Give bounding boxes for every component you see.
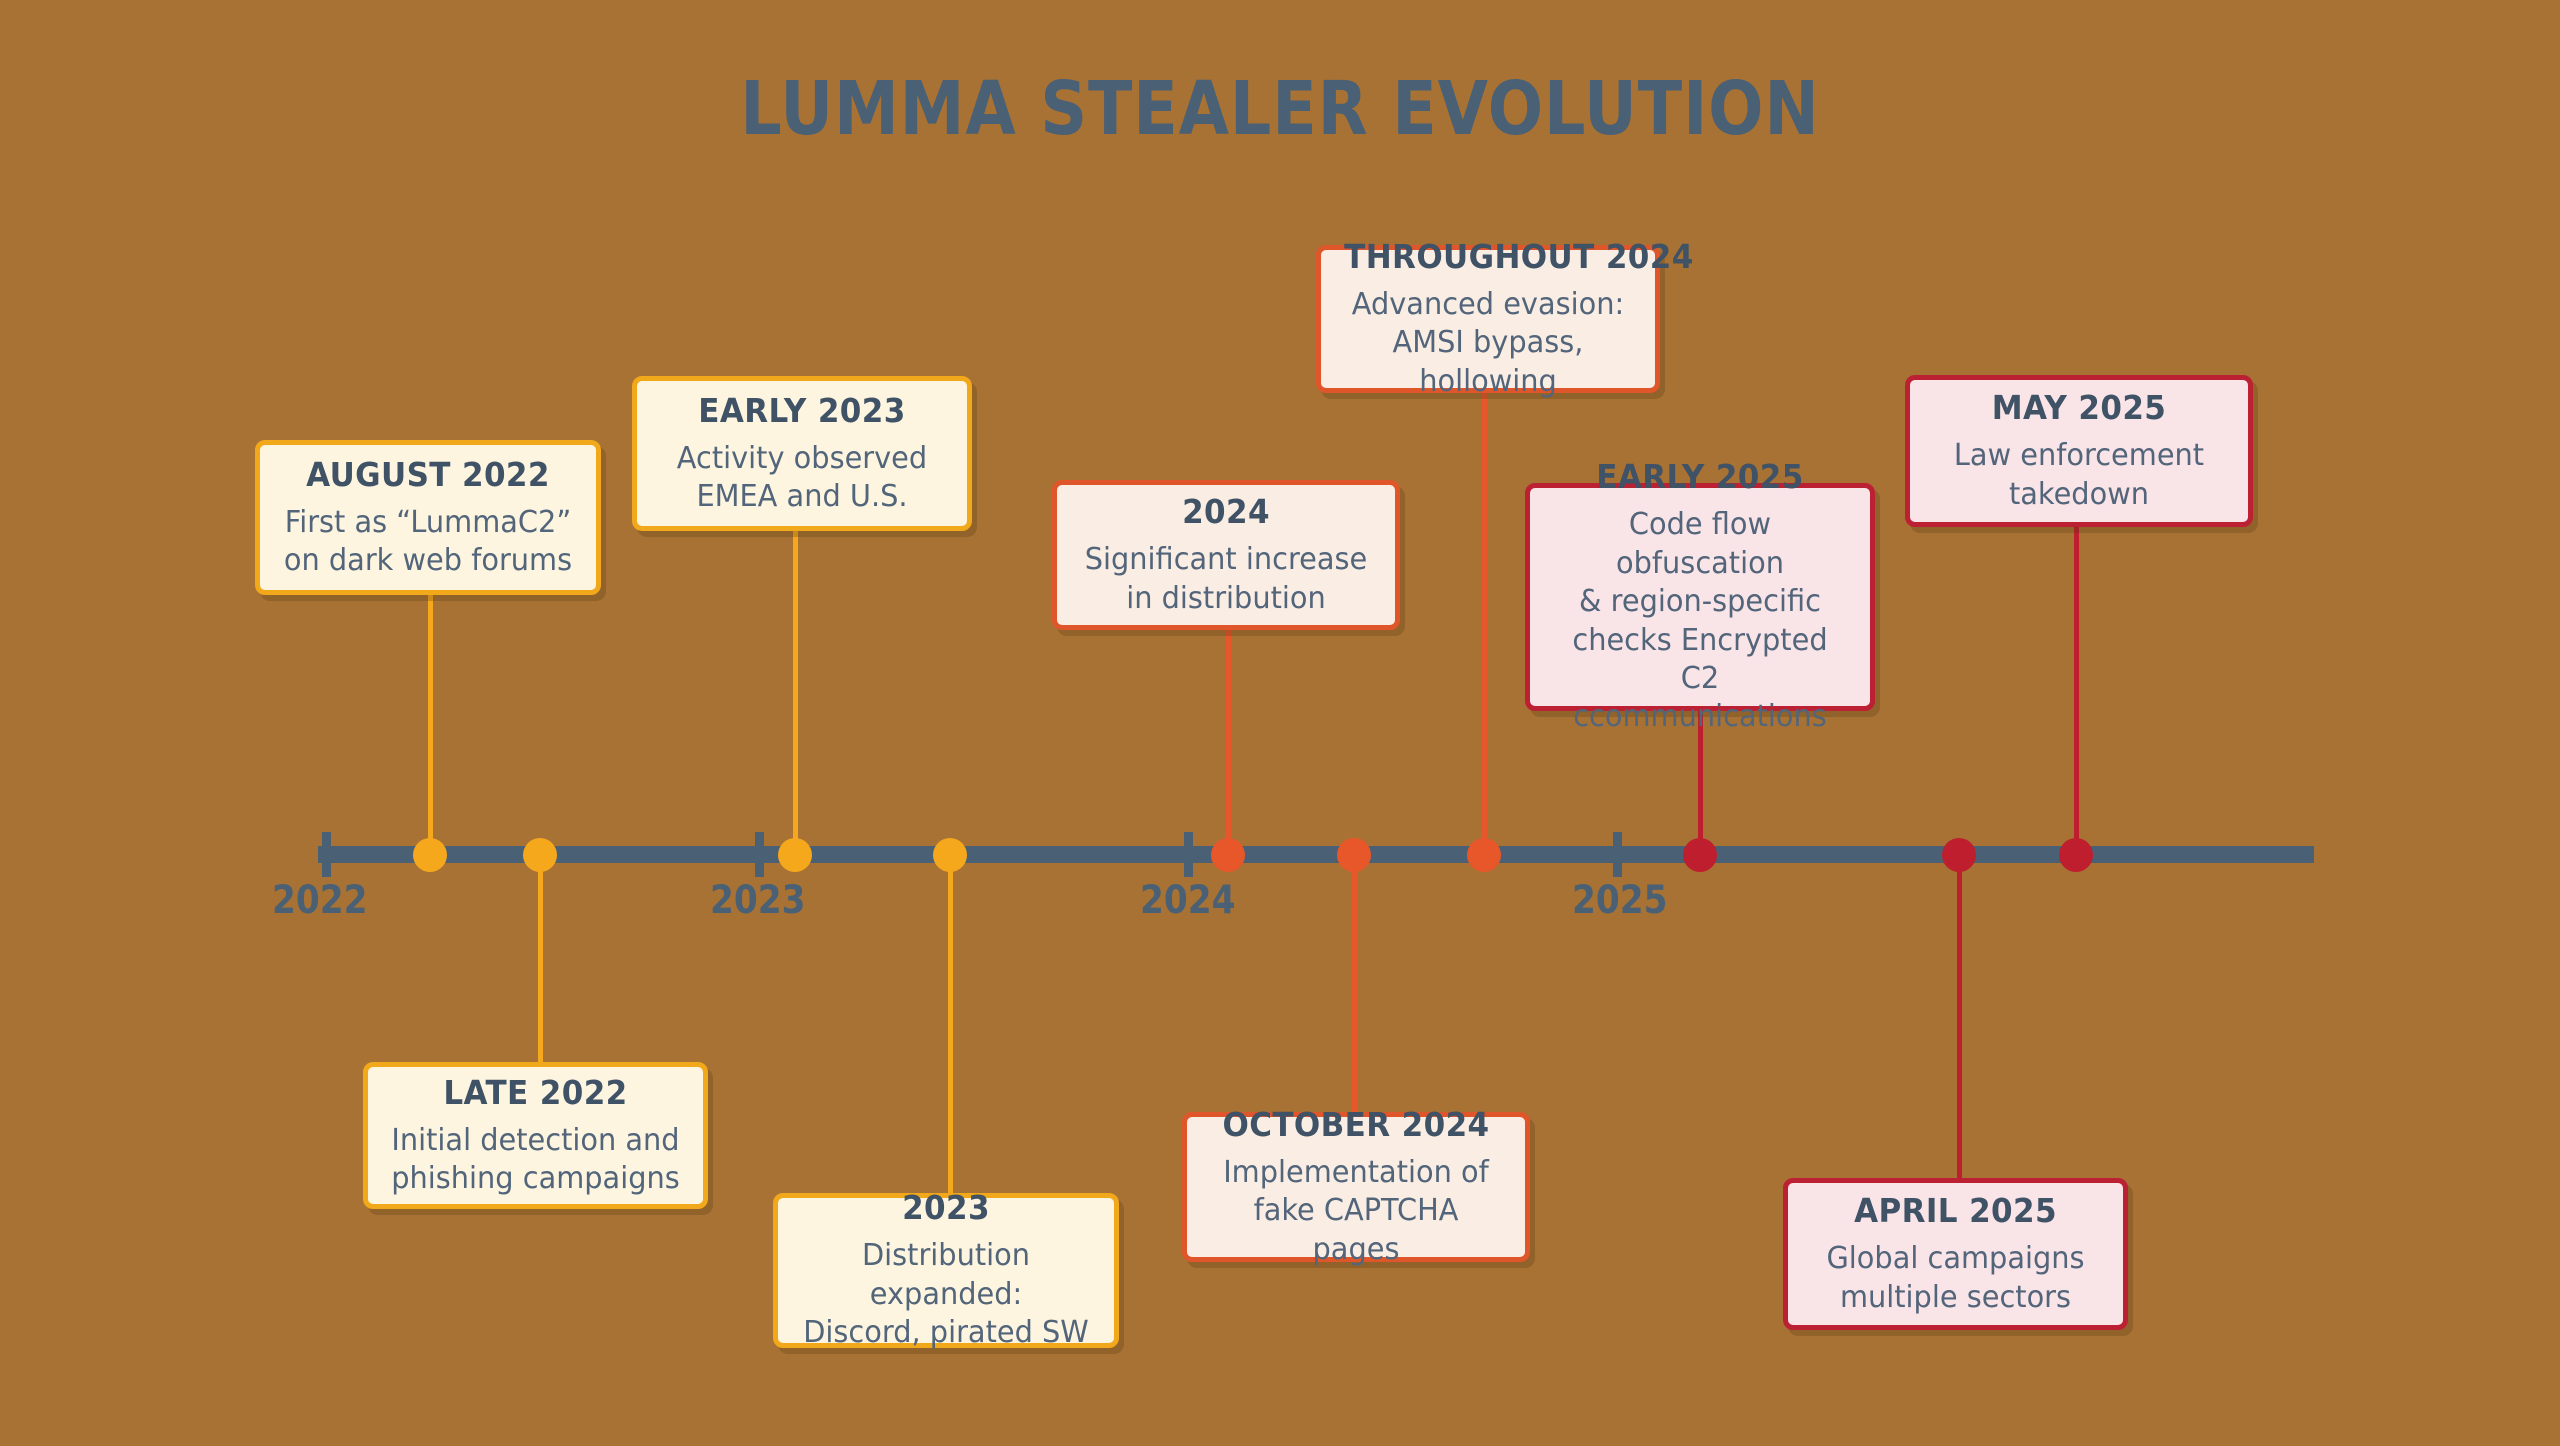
timeline-dot-late-2022[interactable]	[523, 838, 557, 872]
event-card-body: Code flow obfuscation& region-specificch…	[1550, 506, 1850, 736]
event-card-body: First as “LummaC2”on dark web forums	[280, 504, 576, 581]
event-card-body-line: Distribution expanded:	[798, 1237, 1094, 1314]
axis-tick-2024	[1184, 832, 1193, 877]
event-card-throughout-2024[interactable]: THROUGHOUT 2024Advanced evasion:AMSI byp…	[1316, 245, 1660, 393]
event-card-title: MAY 2025	[1933, 388, 2224, 427]
event-card-body: Distribution expanded:Discord, pirated S…	[798, 1237, 1094, 1352]
timeline-infographic: LUMMA STEALER EVOLUTION 2022202320242025…	[0, 0, 2560, 1446]
event-card-body-line: checks Encrypted C2	[1550, 622, 1850, 699]
axis-year-label-2025: 2025	[1572, 878, 1668, 923]
axis-year-label-2024: 2024	[1140, 878, 1236, 923]
timeline-dot-2024[interactable]	[1211, 838, 1245, 872]
event-card-october-2024[interactable]: OCTOBER 2024Implementation offake CAPTCH…	[1182, 1112, 1530, 1262]
event-card-body: Global campaignsmultiple sectors	[1808, 1240, 2103, 1317]
event-card-title: LATE 2022	[391, 1073, 680, 1112]
event-card-body-line: takedown	[1930, 476, 2228, 514]
event-card-body-line: EMEA and U.S.	[657, 478, 947, 516]
event-card-title: EARLY 2025	[1553, 457, 1846, 496]
event-card-april-2025[interactable]: APRIL 2025Global campaignsmultiple secto…	[1783, 1178, 2128, 1330]
event-card-body-line: AMSI bypass, hollowing	[1341, 324, 1635, 401]
event-card-title: 2024	[1080, 492, 1371, 531]
event-card-body-line: Global campaigns	[1808, 1240, 2103, 1278]
event-card-body-line: Significant increase	[1077, 541, 1375, 579]
connector-stem-2024	[1226, 630, 1231, 855]
event-card-2023[interactable]: 2023Distribution expanded:Discord, pirat…	[773, 1193, 1119, 1348]
event-card-body-line: Initial detection and	[388, 1122, 683, 1160]
timeline-dot-2023[interactable]	[933, 838, 967, 872]
event-card-body-line: in distribution	[1077, 580, 1375, 618]
event-card-body-line: Advanced evasion:	[1341, 286, 1635, 324]
event-card-body: Law enforcementtakedown	[1930, 437, 2228, 514]
axis-year-label-2022: 2022	[272, 878, 368, 923]
timeline-dot-may-2025[interactable]	[2059, 838, 2093, 872]
event-card-body-line: fake CAPTCHA pages	[1207, 1192, 1505, 1269]
timeline-dot-october-2024[interactable]	[1337, 838, 1371, 872]
event-card-body-line: Discord, pirated SW	[798, 1314, 1094, 1352]
event-card-body-line: & region-specific	[1550, 583, 1850, 621]
axis-tick-2025	[1613, 832, 1622, 877]
connector-stem-late-2022	[538, 855, 543, 1063]
event-card-body: Implementation offake CAPTCHA pages	[1207, 1154, 1505, 1269]
event-card-body-line: Activity observed	[657, 440, 947, 478]
timeline-dot-april-2025[interactable]	[1942, 838, 1976, 872]
event-card-2024[interactable]: 2024Significant increasein distribution	[1052, 480, 1400, 630]
timeline-dot-early-2025[interactable]	[1683, 838, 1717, 872]
event-card-body-line: First as “LummaC2”	[280, 504, 576, 542]
connector-stem-early-2023	[793, 531, 798, 855]
event-card-body-line: Implementation of	[1207, 1154, 1505, 1192]
connector-stem-throughout-2024	[1482, 393, 1487, 855]
event-card-august-2022[interactable]: AUGUST 2022First as “LummaC2”on dark web…	[255, 440, 601, 595]
page-title: LUMMA STEALER EVOLUTION	[154, 66, 2407, 152]
event-card-title: OCTOBER 2024	[1210, 1105, 1501, 1144]
axis-year-label-2023: 2023	[710, 878, 806, 923]
axis-tick-2023	[755, 832, 764, 877]
event-card-title: THROUGHOUT 2024	[1344, 237, 1632, 276]
timeline-dot-early-2023[interactable]	[778, 838, 812, 872]
connector-stem-august-2022	[428, 595, 433, 855]
event-card-title: APRIL 2025	[1811, 1191, 2100, 1230]
event-card-late-2022[interactable]: LATE 2022Initial detection andphishing c…	[363, 1062, 708, 1209]
event-card-early-2025[interactable]: EARLY 2025Code flow obfuscation& region-…	[1525, 483, 1875, 711]
connector-stem-october-2024	[1352, 855, 1357, 1113]
event-card-body: Activity observedEMEA and U.S.	[657, 440, 947, 517]
event-card-body: Advanced evasion:AMSI bypass, hollowing	[1341, 286, 1635, 401]
event-card-body-line: phishing campaigns	[388, 1160, 683, 1198]
event-card-title: AUGUST 2022	[283, 455, 573, 494]
event-card-may-2025[interactable]: MAY 2025Law enforcementtakedown	[1905, 375, 2253, 527]
event-card-early-2023[interactable]: EARLY 2023Activity observedEMEA and U.S.	[632, 376, 972, 531]
timeline-dot-throughout-2024[interactable]	[1467, 838, 1501, 872]
timeline-dot-august-2022[interactable]	[413, 838, 447, 872]
event-card-body-line: Law enforcement	[1930, 437, 2228, 475]
event-card-body: Significant increasein distribution	[1077, 541, 1375, 618]
connector-stem-april-2025	[1957, 855, 1962, 1179]
event-card-body-line: ccommunications	[1550, 698, 1850, 736]
event-card-body-line: Code flow obfuscation	[1550, 506, 1850, 583]
event-card-title: 2023	[801, 1188, 1091, 1227]
axis-tick-2022	[322, 832, 331, 877]
connector-stem-2023	[948, 855, 953, 1194]
connector-stem-may-2025	[2074, 527, 2079, 855]
event-card-body: Initial detection andphishing campaigns	[388, 1122, 683, 1199]
event-card-body-line: on dark web forums	[280, 542, 576, 580]
timeline-axis-line	[318, 846, 2314, 863]
event-card-title: EARLY 2023	[660, 391, 944, 430]
event-card-body-line: multiple sectors	[1808, 1279, 2103, 1317]
